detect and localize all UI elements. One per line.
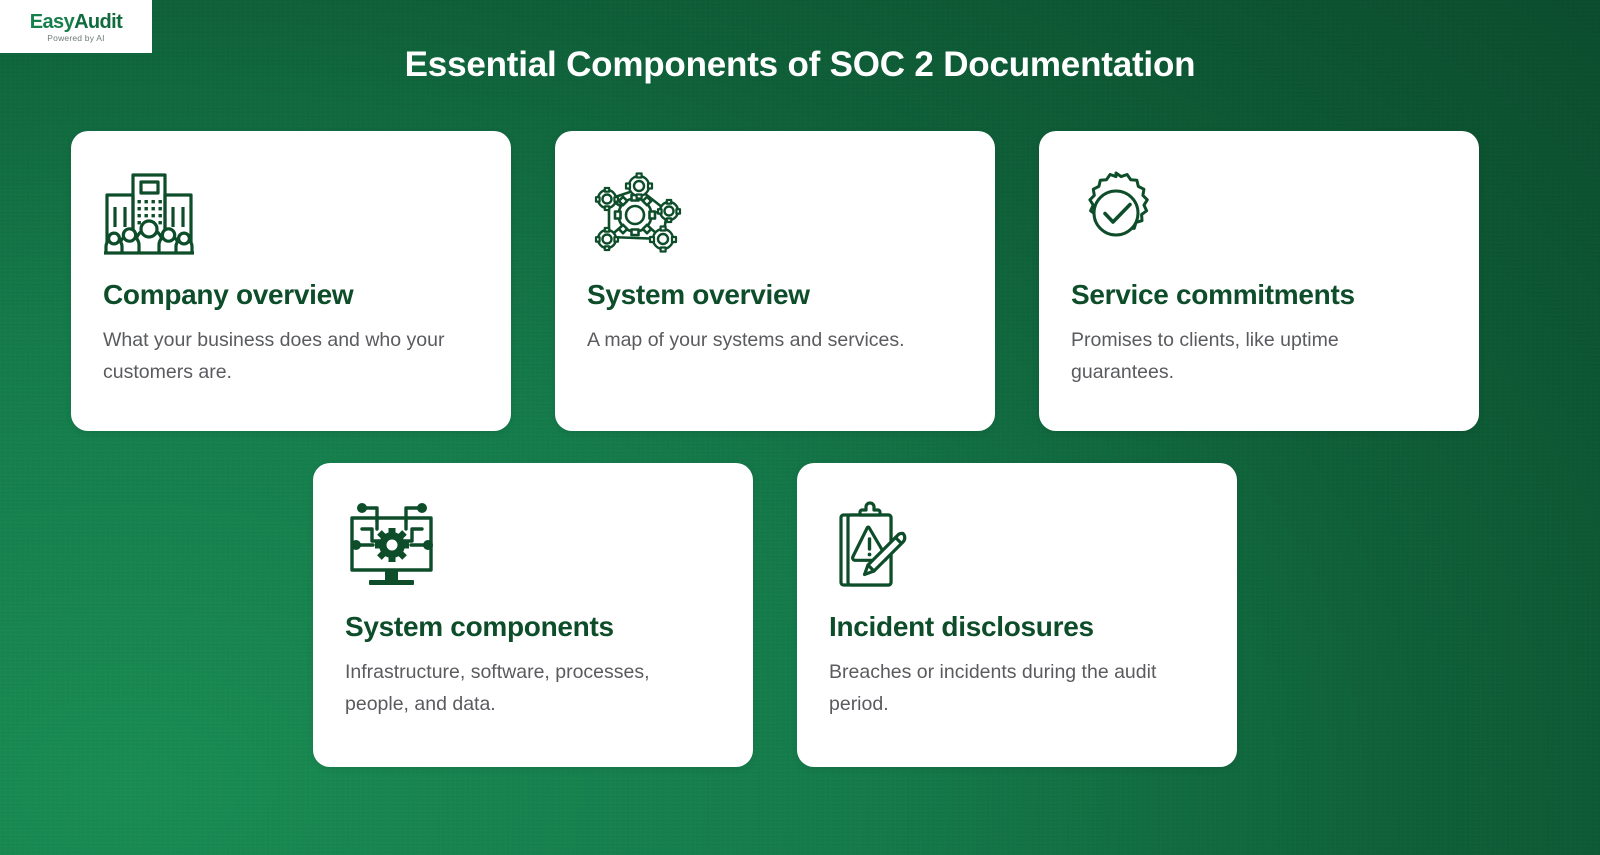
card-incident-disclosures[interactable]: Incident disclosures Breaches or inciden… xyxy=(797,463,1237,767)
logo-tagline: Powered by AI xyxy=(47,34,104,43)
clipboard-warning-pencil-icon xyxy=(829,501,1205,589)
card-row-top: Company overview What your business does… xyxy=(71,131,1479,431)
card-description: Breaches or incidents during the audit p… xyxy=(829,657,1189,720)
office-building-people-icon xyxy=(103,169,479,257)
card-service-commitments[interactable]: Service commitments Promises to clients,… xyxy=(1039,131,1479,431)
logo-word-audit: Audit xyxy=(74,11,122,33)
card-company-overview[interactable]: Company overview What your business does… xyxy=(71,131,511,431)
card-description: What your business does and who your cus… xyxy=(103,325,463,388)
card-system-components[interactable]: System components Infrastructure, softwa… xyxy=(313,463,753,767)
page-title: Essential Components of SOC 2 Documentat… xyxy=(0,45,1600,85)
card-description: Promises to clients, like uptime guarant… xyxy=(1071,325,1431,388)
card-title: Service commitments xyxy=(1071,279,1447,311)
card-description: A map of your systems and services. xyxy=(587,325,947,357)
card-description: Infrastructure, software, processes, peo… xyxy=(345,657,705,720)
certified-badge-check-icon xyxy=(1071,169,1447,257)
card-title: System overview xyxy=(587,279,963,311)
infographic-root: EasyAudit Powered by AI Essential Compon… xyxy=(0,0,1600,855)
logo-word-easy: Easy xyxy=(30,11,74,33)
logo-wordmark: EasyAudit xyxy=(30,12,122,32)
card-row-bottom: System components Infrastructure, softwa… xyxy=(313,463,1237,767)
card-title: System components xyxy=(345,611,721,643)
card-title: Company overview xyxy=(103,279,479,311)
card-system-overview[interactable]: System overview A map of your systems an… xyxy=(555,131,995,431)
card-title: Incident disclosures xyxy=(829,611,1205,643)
connected-gears-network-icon xyxy=(587,169,963,257)
monitor-circuit-gear-icon xyxy=(345,501,721,589)
